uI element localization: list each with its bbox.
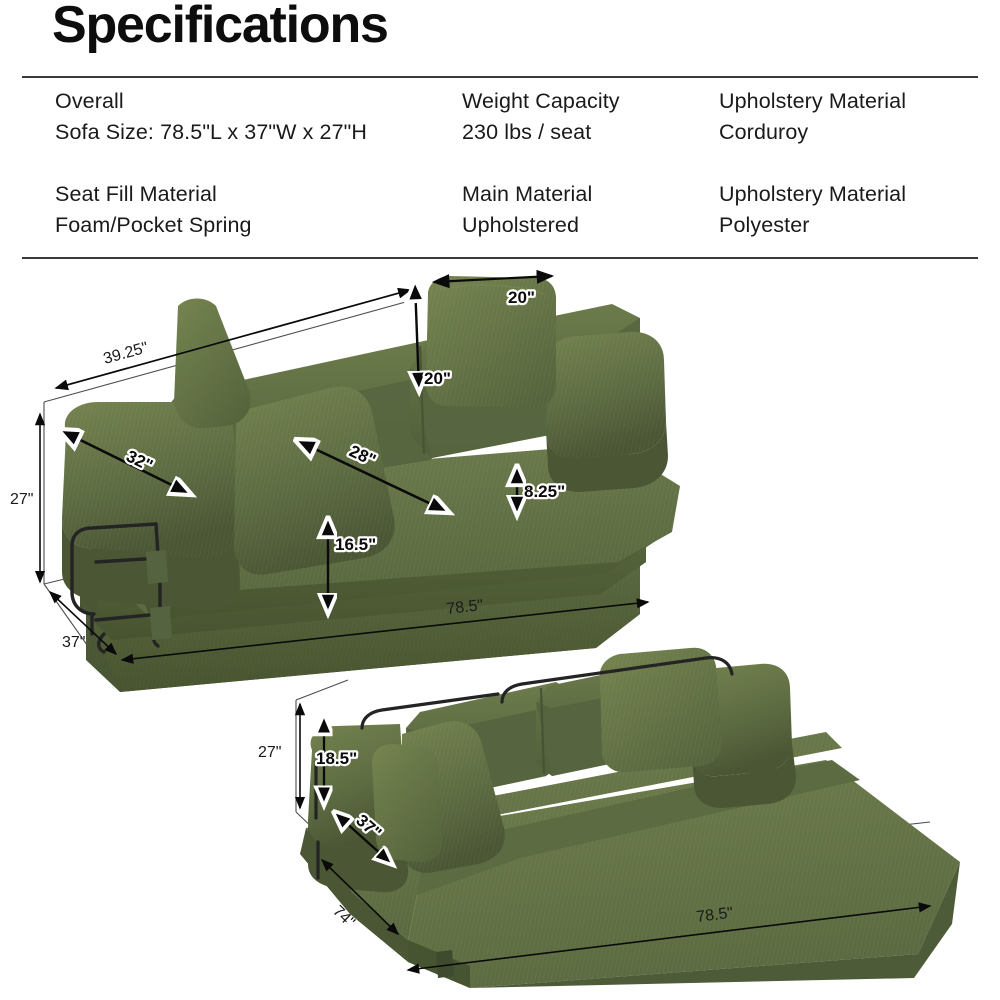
spec-value: Upholstered xyxy=(462,210,592,241)
page-title: Specifications xyxy=(52,0,388,56)
spec-cell-seat-fill: Seat Fill Material Foam/Pocket Spring xyxy=(55,179,252,241)
dim-label-overall-width: 37" xyxy=(62,634,85,651)
spec-label: Seat Fill Material xyxy=(55,179,252,210)
product-illustrations: 39.25" 32" 28" 20" 20" 8.25" xyxy=(0,262,1000,1000)
spec-cell-upholstery-corduroy: Upholstery Material Corduroy xyxy=(719,86,906,148)
dim-label-cushion-thickness: 8.25" xyxy=(524,482,565,501)
sofa-throw-pillow-left xyxy=(174,299,251,429)
dim-label-pillow-height: 20" xyxy=(424,369,451,388)
divider-bottom xyxy=(22,257,978,259)
dim-label-overall-height: 27" xyxy=(10,491,33,508)
bed-dimension-27: 27" xyxy=(258,704,300,808)
spec-value: Corduroy xyxy=(719,117,906,148)
dim-label-bed-back-height: 27" xyxy=(258,744,281,761)
spec-label: Overall xyxy=(55,86,367,117)
dim-label-bed-arm-height: 18.5" xyxy=(316,749,357,768)
spec-cell-overall: Overall Sofa Size: 78.5"L x 37"W x 27"H xyxy=(55,86,367,148)
spec-value: Foam/Pocket Spring xyxy=(55,210,252,241)
dim-label-pillow-width: 20" xyxy=(508,288,535,307)
dimension-illustration-svg: 39.25" 32" 28" 20" 20" 8.25" xyxy=(0,262,1000,1000)
spec-cell-upholstery-polyester: Upholstery Material Polyester xyxy=(719,179,906,241)
spec-label: Upholstery Material xyxy=(719,86,906,117)
spec-cell-main-material: Main Material Upholstered xyxy=(462,179,592,241)
frame-fabric-tab-2 xyxy=(150,606,172,640)
spec-label: Upholstery Material xyxy=(719,179,906,210)
divider-top xyxy=(22,76,978,78)
sofa-mode-illustration: 39.25" 32" 28" 20" 20" 8.25" xyxy=(10,276,680,702)
spec-cell-weight-capacity: Weight Capacity 230 lbs / seat xyxy=(462,86,620,148)
frame-fabric-tab-1 xyxy=(146,550,168,584)
spec-row-1: Overall Sofa Size: 78.5"L x 37"W x 27"H … xyxy=(0,86,1000,179)
spec-label: Main Material xyxy=(462,179,592,210)
dim-label-seat-height: 16.5" xyxy=(335,535,376,554)
specification-page: Specifications Overall Sofa Size: 78.5"L… xyxy=(0,0,1000,1000)
spec-label: Weight Capacity xyxy=(462,86,620,117)
spec-value: Polyester xyxy=(719,210,906,241)
bed-throw-pillow-left xyxy=(372,744,442,862)
spec-value: Sofa Size: 78.5"L x 37"W x 27"H xyxy=(55,117,367,148)
specification-table: Overall Sofa Size: 78.5"L x 37"W x 27"H … xyxy=(0,86,1000,272)
spec-value: 230 lbs / seat xyxy=(462,117,620,148)
sofa-dimension-27: 27" xyxy=(10,414,40,582)
